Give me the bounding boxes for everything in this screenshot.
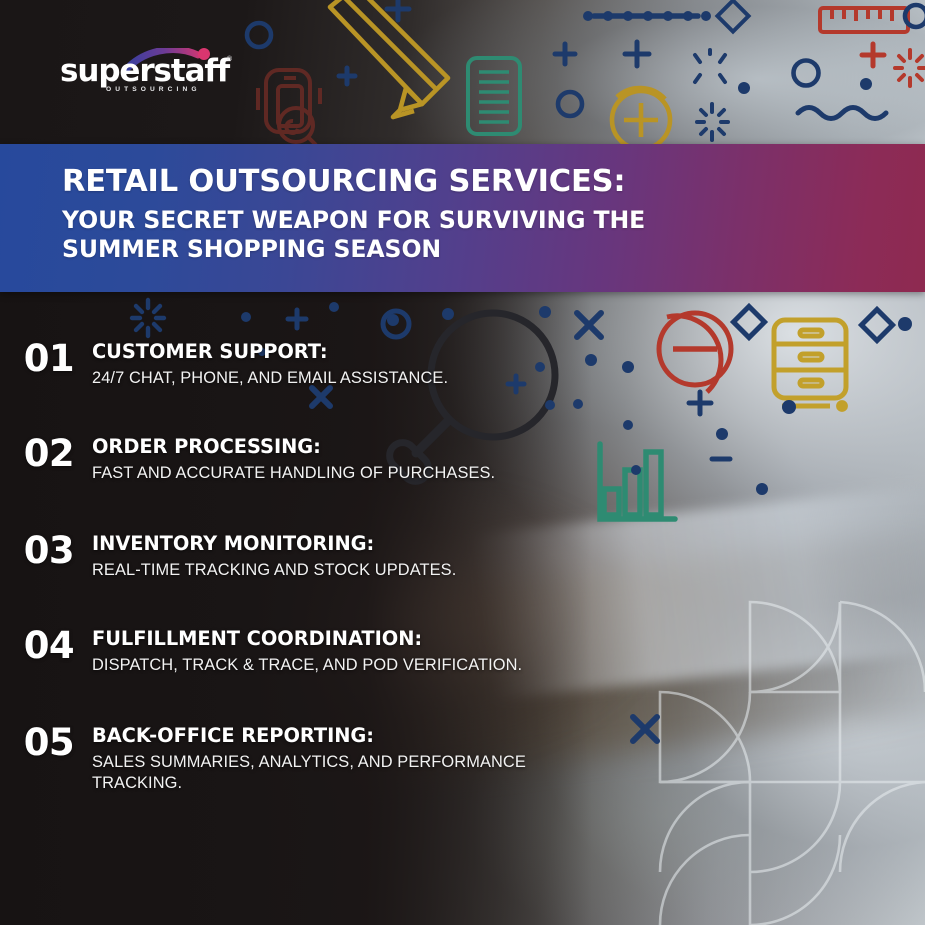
item-description: SALES SUMMARIES, ANALYTICS, AND PERFORMA… xyxy=(92,752,592,795)
list-item: 02 ORDER PROCESSING: FAST AND ACCURATE H… xyxy=(0,435,495,484)
plus-icon xyxy=(862,44,884,66)
starburst-icon xyxy=(697,104,728,140)
document-icon xyxy=(468,58,520,134)
drawer-cabinet-icon xyxy=(774,320,846,409)
wave-icon xyxy=(798,108,886,119)
item-heading: ORDER PROCESSING: xyxy=(92,436,495,458)
header-strip: superstaff ® OUTSOURCING xyxy=(0,0,925,144)
list-item: 03 INVENTORY MONITORING: REAL-TIME TRACK… xyxy=(0,532,456,581)
list-item: 04 FULFILLMENT COORDINATION: DISPATCH, T… xyxy=(0,627,522,676)
item-heading: BACK-OFFICE REPORTING: xyxy=(92,725,592,747)
circle-plus-icon xyxy=(612,88,670,144)
banner-title: RETAIL OUTSOURCING SERVICES: xyxy=(62,166,885,198)
logo-tagline: OUTSOURCING xyxy=(106,86,201,93)
item-heading: INVENTORY MONITORING: xyxy=(92,533,456,555)
logo-registered-mark: ® xyxy=(227,56,232,63)
item-description: 24/7 CHAT, PHONE, AND EMAIL ASSISTANCE. xyxy=(92,368,448,389)
starburst-icon xyxy=(895,50,925,86)
item-description: FAST AND ACCURATE HANDLING OF PURCHASES. xyxy=(92,463,495,484)
circle-icon xyxy=(247,5,925,116)
item-heading: FULFILLMENT COORDINATION: xyxy=(92,628,522,650)
logo-wordmark: superstaff xyxy=(60,56,229,87)
phone-search-icon xyxy=(258,70,320,144)
item-number: 01 xyxy=(0,340,92,377)
infographic-page: superstaff ® OUTSOURCING RETAIL OUTSOURC… xyxy=(0,0,925,925)
ruler-icon xyxy=(820,8,908,32)
arc-pattern-icon xyxy=(660,602,925,925)
bar-chart-icon xyxy=(600,444,675,519)
item-heading: CUSTOMER SUPPORT: xyxy=(92,341,448,363)
list-item: 01 CUSTOMER SUPPORT: 24/7 CHAT, PHONE, A… xyxy=(0,340,448,389)
starburst-icon xyxy=(132,300,164,336)
item-number: 04 xyxy=(0,627,92,664)
banner-subtitle: YOUR SECRET WEAPON FOR SURVIVING THE SUM… xyxy=(62,206,762,264)
circle-minus-icon xyxy=(659,313,731,392)
item-description: DISPATCH, TRACK & TRACE, AND POD VERIFIC… xyxy=(92,655,522,676)
list-item: 05 BACK-OFFICE REPORTING: SALES SUMMARIE… xyxy=(0,724,592,794)
diamond-icon xyxy=(717,0,748,31)
title-banner: RETAIL OUTSOURCING SERVICES: YOUR SECRET… xyxy=(0,144,925,292)
starburst-icon xyxy=(695,50,725,82)
item-number: 05 xyxy=(0,724,92,761)
item-number: 03 xyxy=(0,532,92,569)
item-description: REAL-TIME TRACKING AND STOCK UPDATES. xyxy=(92,560,456,581)
superstaff-logo[interactable]: superstaff ® OUTSOURCING xyxy=(60,48,228,90)
item-number: 02 xyxy=(0,435,92,472)
pencil-icon xyxy=(330,0,448,117)
